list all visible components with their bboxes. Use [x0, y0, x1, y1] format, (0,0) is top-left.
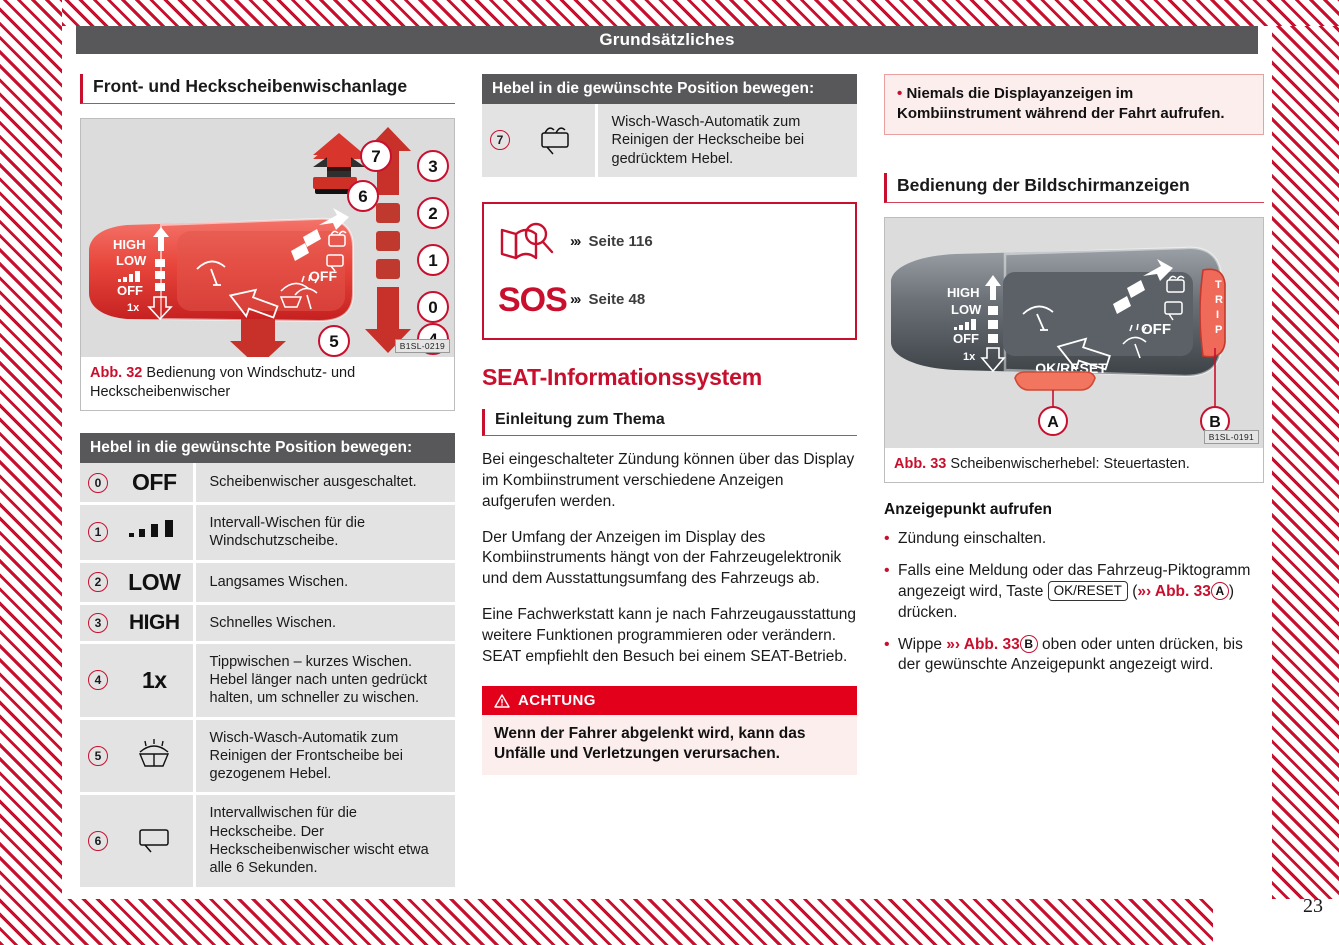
svg-text:P: P — [1215, 324, 1222, 336]
right-square-2 — [376, 203, 400, 223]
warning-title: ACHTUNG — [518, 692, 596, 709]
right-square-1 — [376, 231, 400, 251]
row-number-badge: 7 — [490, 130, 510, 150]
chevron-right-icon: »› — [570, 291, 579, 308]
symbol-off: OFF — [132, 469, 177, 495]
svg-text:A: A — [1047, 414, 1059, 431]
wiper-stalk-diagram-red: HIGH LOW OFF 1x — [81, 119, 454, 357]
row-description: Intervall-Wischen für die Windschutzsche… — [194, 504, 455, 562]
warning-box-achtung: ACHTUNG Wenn der Fahrer abgelenkt wird, … — [482, 686, 857, 775]
figure-32-image-code: B1SL-0219 — [395, 339, 450, 353]
rear-washer-icon — [534, 121, 578, 155]
bullet-dot-icon: • — [897, 85, 902, 102]
paragraph-1: Bei eingeschalteter Zündung können über … — [482, 450, 857, 513]
row-number-badge: 6 — [88, 831, 108, 851]
svg-text:6: 6 — [358, 187, 367, 206]
row-number-badge: 5 — [88, 746, 108, 766]
page-header-title: Grundsätzliches — [76, 26, 1258, 54]
list-item: Zündung einschalten. — [884, 529, 1264, 550]
svg-text:2: 2 — [428, 204, 437, 223]
lever-table-1-body: 0 OFF Scheibenwischer ausgeschaltet. 1 — [80, 463, 455, 888]
trip-rocker-button: T R I P — [1200, 269, 1225, 356]
figure-33-caption-label: Abb. 33 — [894, 456, 946, 472]
svg-text:3: 3 — [428, 157, 437, 176]
lever-position-table-1: Hebel in die gewünschte Position bewegen… — [80, 433, 455, 889]
text-run: Zündung einschalten. — [898, 530, 1046, 547]
section-heading-screen-operation: Bedienung der Bildschirmanzeigen — [884, 173, 1264, 203]
lever-position-table-2: Hebel in die gewünschte Position bewegen… — [482, 74, 857, 180]
row-number-badge: 1 — [88, 522, 108, 542]
sub-heading-anzeigepunkt: Anzeigepunkt aufrufen — [884, 501, 1264, 519]
svg-text:I: I — [1216, 309, 1219, 321]
decorative-stripe-bottom — [0, 899, 1213, 945]
table-row: 6 Intervallwischen für die Heckscheibe. … — [80, 794, 455, 888]
paragraph-2: Der Umfang der Anzeigen im Display des K… — [482, 528, 857, 591]
symbol-1x: 1x — [142, 667, 167, 693]
row-number-badge: 2 — [88, 572, 108, 592]
keycap-ok-reset: OK/RESET — [1048, 581, 1128, 601]
book-magnifier-icon — [498, 220, 570, 264]
svg-text:OFF: OFF — [309, 268, 337, 284]
paragraph-3: Eine Fachwerkstatt kann je nach Fahrzeug… — [482, 605, 857, 668]
row-description: Intervallwischen für die Heckscheibe. De… — [194, 794, 455, 888]
warning-triangle-icon — [494, 694, 510, 708]
reference-row-manual[interactable]: »› Seite 116 — [498, 216, 841, 268]
decorative-stripe-right — [1272, 26, 1339, 899]
figure-33-image: HIGH LOW OFF 1x — [885, 218, 1263, 448]
svg-text:R: R — [1215, 294, 1223, 306]
row-description: Langsames Wischen. — [194, 561, 455, 603]
figure-reference: »› Abb. 33 — [1137, 583, 1211, 600]
text-run: Wippe — [898, 636, 946, 653]
page-number: 23 — [1303, 895, 1323, 918]
table-row: 2 LOW Langsames Wischen. — [80, 561, 455, 603]
svg-text:OFF: OFF — [953, 331, 979, 346]
note-box-display-warning: • Niemals die Displayanzeigen im Kombiin… — [884, 74, 1264, 135]
decorative-stripe-top — [62, 0, 1339, 26]
page-content: Grundsätzliches Front- und Heckscheibenw… — [62, 26, 1272, 899]
figure-32: HIGH LOW OFF 1x — [80, 118, 455, 411]
chevron-right-icon: »› — [570, 233, 579, 250]
reference-page-sos: Seite 48 — [589, 291, 646, 308]
interval-bars-icon — [127, 519, 181, 541]
figure-33-caption: Abb. 33 Scheibenwischerhebel: Steuertast… — [885, 448, 1263, 483]
column-left: Front- und Heckscheibenwischanlage — [80, 74, 455, 890]
sub-heading-einleitung: Einleitung zum Thema — [482, 409, 857, 436]
figure-32-caption-label: Abb. 32 — [90, 365, 142, 381]
table-row: 0 OFF Scheibenwischer ausgeschaltet. — [80, 463, 455, 504]
svg-text:OFF: OFF — [1141, 321, 1171, 338]
row-description: Scheibenwischer ausgeschaltet. — [194, 463, 455, 504]
svg-text:LOW: LOW — [116, 253, 147, 268]
callout-arrow-5 — [230, 319, 286, 357]
svg-text:HIGH: HIGH — [113, 237, 146, 252]
svg-text:HIGH: HIGH — [947, 285, 980, 300]
svg-text:1: 1 — [428, 251, 437, 270]
symbol-low: LOW — [128, 569, 180, 595]
table-row: 5 Wisch-Wasch-Automatik zum Reinigen der… — [80, 718, 455, 794]
note-text: Niemals die Displayanzeigen im Kombiinst… — [897, 85, 1225, 122]
figure-33: HIGH LOW OFF 1x — [884, 217, 1264, 484]
figure-33-image-code: B1SL-0191 — [1204, 430, 1259, 444]
table-row: 1 Intervall-Wischen für die Windschutzsc… — [80, 504, 455, 562]
text-run: ( — [1128, 583, 1137, 600]
svg-text:T: T — [1215, 279, 1222, 291]
row-description: Tippwischen – kurzes Wischen. Hebel läng… — [194, 642, 455, 718]
figure-32-caption: Abb. 32 Bedienung von Windschutz- und He… — [81, 357, 454, 410]
column-middle: Hebel in die gewünschte Position bewegen… — [482, 74, 857, 775]
wiper-stalk-diagram-gray: HIGH LOW OFF 1x — [885, 218, 1263, 448]
svg-text:OFF: OFF — [117, 283, 143, 298]
ok-reset-button — [1015, 372, 1095, 390]
figure-33-caption-text: Scheibenwischerhebel: Steuertasten. — [950, 456, 1189, 472]
callout-letter: A — [1211, 582, 1229, 600]
reference-row-sos[interactable]: SOS »› Seite 48 — [498, 274, 841, 326]
svg-text:LOW: LOW — [951, 302, 982, 317]
table-row: 7 Wisch-Wasch-Automatik zum Reinigen der… — [482, 104, 857, 178]
sos-icon: SOS — [498, 283, 567, 317]
svg-text:0: 0 — [428, 298, 437, 317]
lever-table-2-caption: Hebel in die gewünschte Position bewegen… — [482, 74, 857, 104]
list-item: Falls eine Meldung oder das Fahrzeug-Pik… — [884, 561, 1264, 624]
svg-text:1x: 1x — [127, 302, 140, 314]
row-number-badge: 3 — [88, 613, 108, 633]
section-heading-wiper-system: Front- und Heckscheibenwischanlage — [80, 74, 455, 104]
reference-page-manual: Seite 116 — [589, 233, 653, 250]
callout-letter: B — [1020, 635, 1038, 653]
row-number-badge: 4 — [88, 670, 108, 690]
decorative-stripe-left — [0, 0, 62, 945]
lever-table-1-caption: Hebel in die gewünschte Position bewegen… — [80, 433, 455, 463]
rear-wiper-icon — [134, 824, 174, 854]
svg-text:1x: 1x — [963, 351, 976, 363]
list-item: Wippe »› Abb. 33B oben oder unten drücke… — [884, 635, 1264, 676]
figure-32-image: HIGH LOW OFF 1x — [81, 119, 454, 357]
table-row: 4 1x Tippwischen – kurzes Wischen. Hebel… — [80, 642, 455, 718]
row-number-badge: 0 — [88, 473, 108, 493]
front-washer-icon — [134, 738, 174, 770]
warning-text: Wenn der Fahrer abgelenkt wird, kann das… — [482, 715, 857, 775]
table-row: 3 HIGH Schnelles Wischen. — [80, 603, 455, 642]
cross-reference-box: »› Seite 116 SOS »› Seite 48 — [482, 202, 857, 340]
section-title-seat-info-system: SEAT-Informationssystem — [482, 364, 857, 391]
callout-arrow-7 — [313, 133, 365, 177]
svg-text:7: 7 — [371, 147, 380, 166]
svg-text:B: B — [1209, 414, 1221, 431]
row-description: Schnelles Wischen. — [194, 603, 455, 642]
row-description: Wisch-Wasch-Automatik zum Reinigen der F… — [194, 718, 455, 794]
right-square-0 — [376, 259, 400, 279]
symbol-high: HIGH — [129, 611, 180, 634]
svg-text:5: 5 — [329, 332, 338, 351]
figure-reference: »› Abb. 33 — [946, 636, 1020, 653]
row-description: Wisch-Wasch-Automatik zum Reinigen der H… — [596, 104, 857, 178]
instruction-list: Zündung einschalten. Falls eine Meldung … — [884, 529, 1264, 676]
column-right: • Niemals die Displayanzeigen im Kombiin… — [884, 74, 1264, 687]
